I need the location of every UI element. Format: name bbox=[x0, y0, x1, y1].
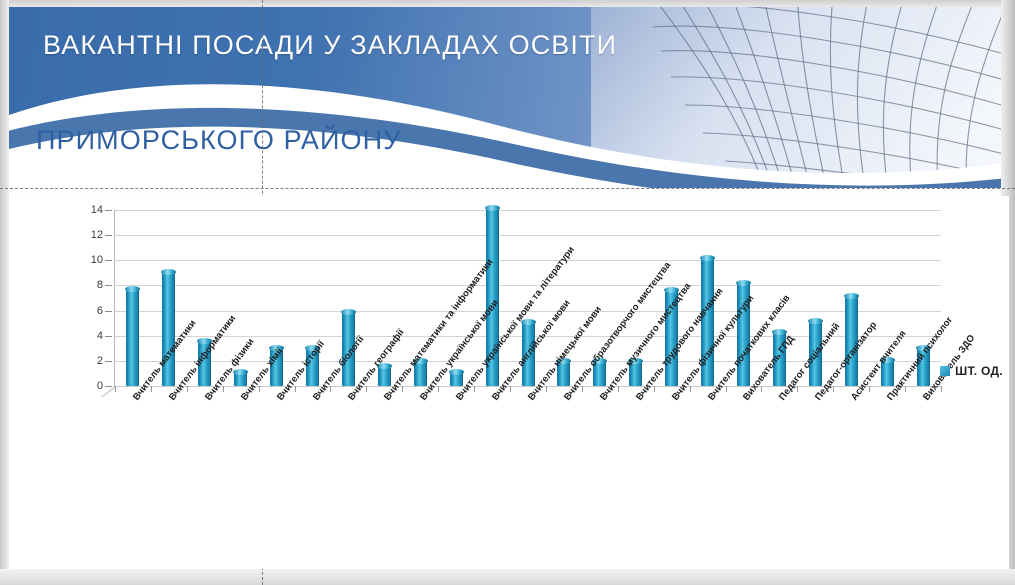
slide-header-banner: ВАКАНТНІ ПОСАДИ У ЗАКЛАДАХ ОСВІТИ bbox=[9, 7, 1001, 188]
editor-frame-bottom bbox=[0, 569, 1015, 585]
editor-frame-top bbox=[0, 0, 1015, 7]
bar-chart[interactable]: 02468101214 Вчитель математикиВчитель ін… bbox=[9, 196, 1009, 569]
x-axis-tick-mark bbox=[582, 386, 583, 392]
x-axis-tick-label: Вчитель німецької мови bbox=[526, 304, 604, 402]
x-axis-tick-mark bbox=[654, 386, 655, 392]
x-axis-tick-mark bbox=[366, 386, 367, 392]
x-axis-tick-mark bbox=[438, 386, 439, 392]
legend-swatch-icon bbox=[940, 366, 950, 376]
slide-title-line-1: ВАКАНТНІ ПОСАДИ У ЗАКЛАДАХ ОСВІТИ bbox=[43, 30, 617, 61]
x-axis-tick-mark bbox=[618, 386, 619, 392]
x-axis-tick-mark bbox=[546, 386, 547, 392]
x-axis-tick-mark bbox=[115, 386, 116, 392]
x-axis-tick-mark bbox=[474, 386, 475, 392]
x-axis-tick-mark bbox=[833, 386, 834, 392]
x-axis-tick-mark bbox=[726, 386, 727, 392]
x-axis-tick-label: Вчитель математики bbox=[131, 318, 199, 403]
x-axis-tick-label: Вчитель інформатики bbox=[167, 313, 238, 402]
x-axis-tick-mark bbox=[905, 386, 906, 392]
editor-frame-left bbox=[0, 0, 9, 585]
presentation-slide: ВАКАНТНІ ПОСАДИ У ЗАКЛАДАХ ОСВІТИ ПРИМОР… bbox=[0, 0, 1015, 585]
x-axis-tick-mark bbox=[223, 386, 224, 392]
x-axis-labels: Вчитель математикиВчитель інформатикиВчи… bbox=[9, 196, 1009, 569]
x-axis-tick-mark bbox=[797, 386, 798, 392]
x-axis-tick-mark bbox=[151, 386, 152, 392]
x-axis-tick-mark bbox=[761, 386, 762, 392]
x-axis-tick-mark bbox=[510, 386, 511, 392]
x-axis-tick-mark bbox=[295, 386, 296, 392]
x-axis-tick-mark bbox=[869, 386, 870, 392]
x-axis-tick-mark bbox=[259, 386, 260, 392]
x-axis-tick-mark bbox=[330, 386, 331, 392]
x-axis-tick-mark bbox=[941, 386, 942, 392]
chart-legend[interactable]: ШТ. ОД. bbox=[940, 364, 1003, 378]
x-axis-tick-mark bbox=[402, 386, 403, 392]
guide-line-horizontal bbox=[0, 188, 1015, 189]
x-axis-tick-label: Практичний психолог bbox=[885, 315, 955, 403]
x-axis-tick-mark bbox=[690, 386, 691, 392]
slide-title-line-2: ПРИМОРСЬКОГО РАЙОНУ bbox=[36, 125, 401, 156]
x-axis-tick-mark bbox=[187, 386, 188, 392]
legend-label: ШТ. ОД. bbox=[955, 364, 1003, 378]
